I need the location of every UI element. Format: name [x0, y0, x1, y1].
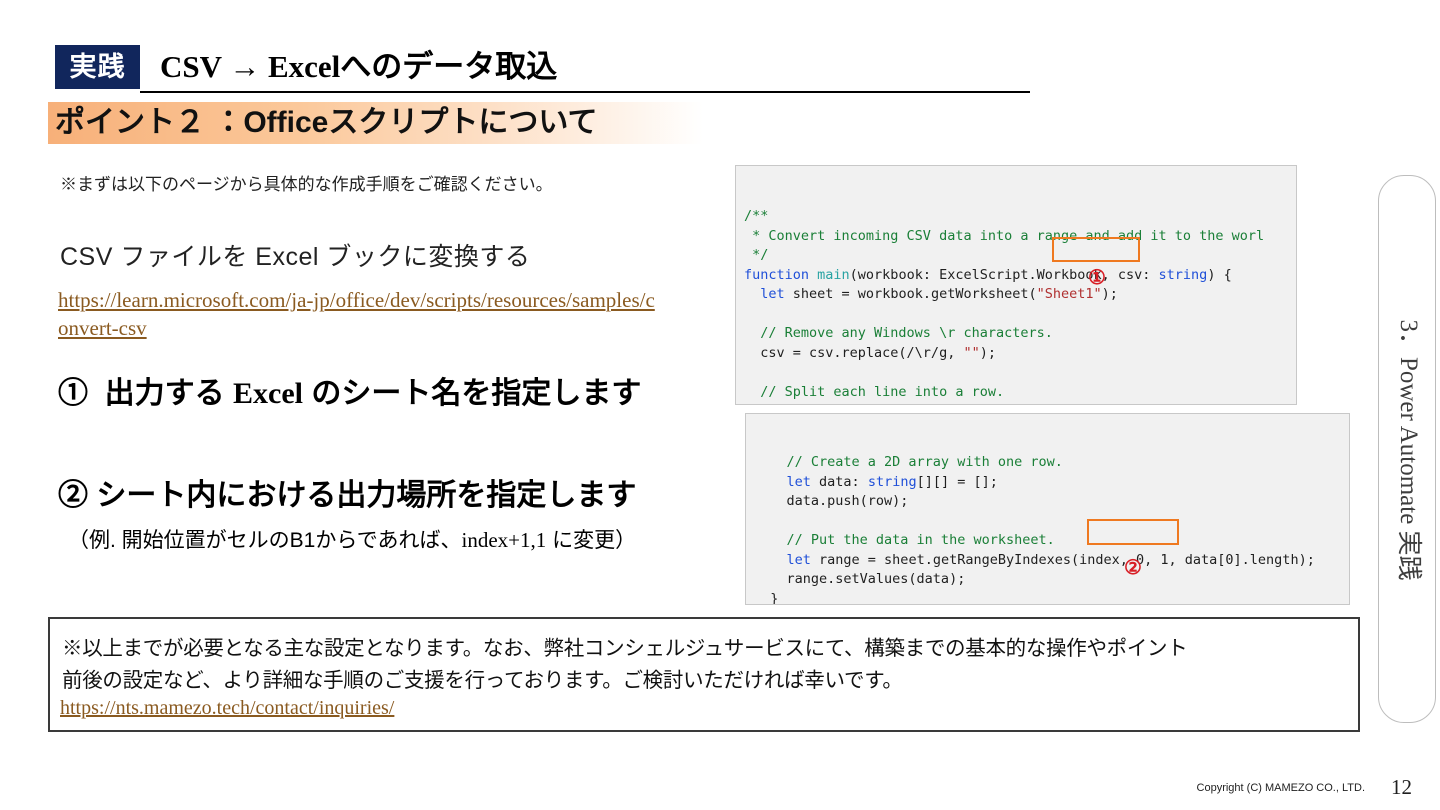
code-line: // Put the data in the worksheet.: [754, 531, 1349, 551]
code-line: data.push(row);: [754, 492, 1349, 512]
code-line: let data: string[][] = [];: [754, 473, 1349, 493]
code-block-convert-csv-top: /** * Convert incoming CSV data into a r…: [735, 165, 1297, 405]
code-token: * Convert incoming CSV data into a range…: [744, 228, 1264, 244]
step-1-text-c: のシート名を指定します: [303, 377, 641, 410]
code-line: // Split each line into a row.: [744, 383, 1296, 403]
intro-note: ※まずは以下のページから具体的な作成手順をご確認ください。: [60, 170, 553, 195]
code-token: main: [817, 267, 850, 283]
code-token: data:: [811, 474, 868, 490]
code-token: (workbook: ExcelScript.Workbook, csv:: [850, 267, 1159, 283]
code-token: string: [868, 474, 917, 490]
footer-copyright: Copyright (C) MAMEZO CO., LTD.: [1197, 782, 1365, 794]
code-token: : This will split values that contain ne…: [817, 403, 1264, 405]
step-2-note-a: （例. 開始位置がセルのB1からであれば、: [68, 529, 462, 552]
microsoft-docs-link[interactable]: https://learn.microsoft.com/ja-jp/office…: [58, 286, 658, 342]
highlight-box-sheet-name: [1052, 237, 1140, 262]
code-line: [744, 363, 1296, 383]
code-token: ) {: [1207, 267, 1231, 283]
code-line: */: [744, 246, 1296, 266]
reference-heading: CSV ファイルを Excel ブックに変換する: [60, 237, 530, 273]
code-lines-1: /** * Convert incoming CSV data into a r…: [736, 205, 1296, 405]
code-line: csv = csv.replace(/\r/g, "");: [744, 344, 1296, 364]
code-token: [][] = [];: [917, 474, 998, 490]
code-line: /**: [744, 207, 1296, 227]
code-line: let sheet = workbook.getWorksheet("Sheet…: [744, 285, 1296, 305]
code-token: let: [787, 552, 811, 568]
code-token: sheet = workbook.getWorksheet(: [785, 286, 1037, 302]
step-2-marker: ②: [58, 479, 88, 512]
step-1-text-b: Excel: [233, 377, 303, 410]
section-tab-label: 3．Power Automate 実践: [1379, 176, 1437, 724]
code-token: // Remove any Windows \r characters.: [744, 325, 1053, 341]
step-2-text: ② シート内における出力場所を指定します: [58, 470, 636, 514]
code-token: [754, 552, 787, 568]
step-2-text-body: シート内における出力場所を指定します: [96, 479, 636, 512]
code-line: * Convert incoming CSV data into a range…: [744, 227, 1296, 247]
code-token: "": [963, 345, 979, 361]
code-lines-2: // Create a 2D array with one row. let d…: [746, 453, 1349, 605]
step-1-marker: ①: [58, 377, 88, 410]
code-token: );: [980, 345, 996, 361]
code-token: csv = csv.replace(/\r/g,: [744, 345, 963, 361]
annotation-marker-2: ②: [1124, 555, 1142, 580]
code-token: // Split each line into a row.: [744, 384, 1004, 400]
code-token: //: [744, 403, 785, 405]
code-line: // NOTE: This will split values that con…: [744, 402, 1296, 405]
slide-header: 実践 CSV → Excelへのデータ取込: [55, 45, 1030, 93]
step-2-note: （例. 開始位置がセルのB1からであれば、index+1,1 に変更）: [68, 524, 636, 554]
step-1-text: ① 出力する Excel のシート名を指定します: [58, 368, 641, 412]
code-token: range.setValues(data);: [754, 571, 965, 587]
code-block-convert-csv-bottom: // Create a 2D array with one row. let d…: [745, 413, 1350, 605]
bottom-callout-box: ※以上までが必要となる主な設定となります。なお、弊社コンシェルジュサービスにて、…: [48, 617, 1360, 732]
code-token: */: [744, 247, 768, 263]
header-badge: 実践: [55, 45, 140, 89]
code-line: // Create a 2D array with one row.: [754, 453, 1349, 473]
code-token: range = sheet.getRangeByIndexes(index, 0…: [811, 552, 1315, 568]
code-token: data.push(row);: [754, 493, 908, 509]
code-token: let: [787, 474, 811, 490]
header-divider: [140, 91, 1030, 93]
step-2-note-code: index+1,1: [462, 528, 547, 552]
code-line: range.setValues(data);: [754, 570, 1349, 590]
code-token: // Put the data in the worksheet.: [754, 532, 1055, 548]
subtitle-text: ポイント２ ：Officeスクリプトについて: [55, 103, 597, 143]
code-line: [744, 305, 1296, 325]
code-token: /**: [744, 208, 768, 224]
code-line: [754, 512, 1349, 532]
contact-inquiry-link[interactable]: https://nts.mamezo.tech/contact/inquirie…: [60, 697, 394, 720]
code-token: [754, 474, 787, 490]
highlight-box-range-indexes: [1087, 519, 1179, 545]
code-token: function: [744, 267, 817, 283]
code-line: let range = sheet.getRangeByIndexes(inde…: [754, 551, 1349, 571]
code-line: function main(workbook: ExcelScript.Work…: [744, 266, 1296, 286]
annotation-marker-1: ①: [1088, 265, 1106, 290]
code-token: let: [760, 286, 784, 302]
code-token: // Create a 2D array with one row.: [754, 454, 1063, 470]
code-token: NOTE: [785, 403, 818, 405]
step-1-text-a: 出力する: [105, 377, 233, 410]
code-line: }: [754, 590, 1349, 606]
page-title: CSV → Excelへのデータ取込: [160, 45, 557, 89]
code-line: // Remove any Windows \r characters.: [744, 324, 1296, 344]
section-tab[interactable]: 3．Power Automate 実践: [1378, 175, 1436, 723]
code-token: }: [754, 591, 778, 606]
code-token: [744, 286, 760, 302]
callout-line-2: 前後の設定など、より詳細な手順のご支援を行っております。ご検討いただければ幸いで…: [62, 663, 903, 693]
callout-line-1: ※以上までが必要となる主な設定となります。なお、弊社コンシェルジュサービスにて、…: [62, 631, 1187, 661]
code-token: string: [1159, 267, 1208, 283]
step-2-note-c: に変更）: [546, 529, 636, 552]
page-number: 12: [1391, 775, 1412, 800]
